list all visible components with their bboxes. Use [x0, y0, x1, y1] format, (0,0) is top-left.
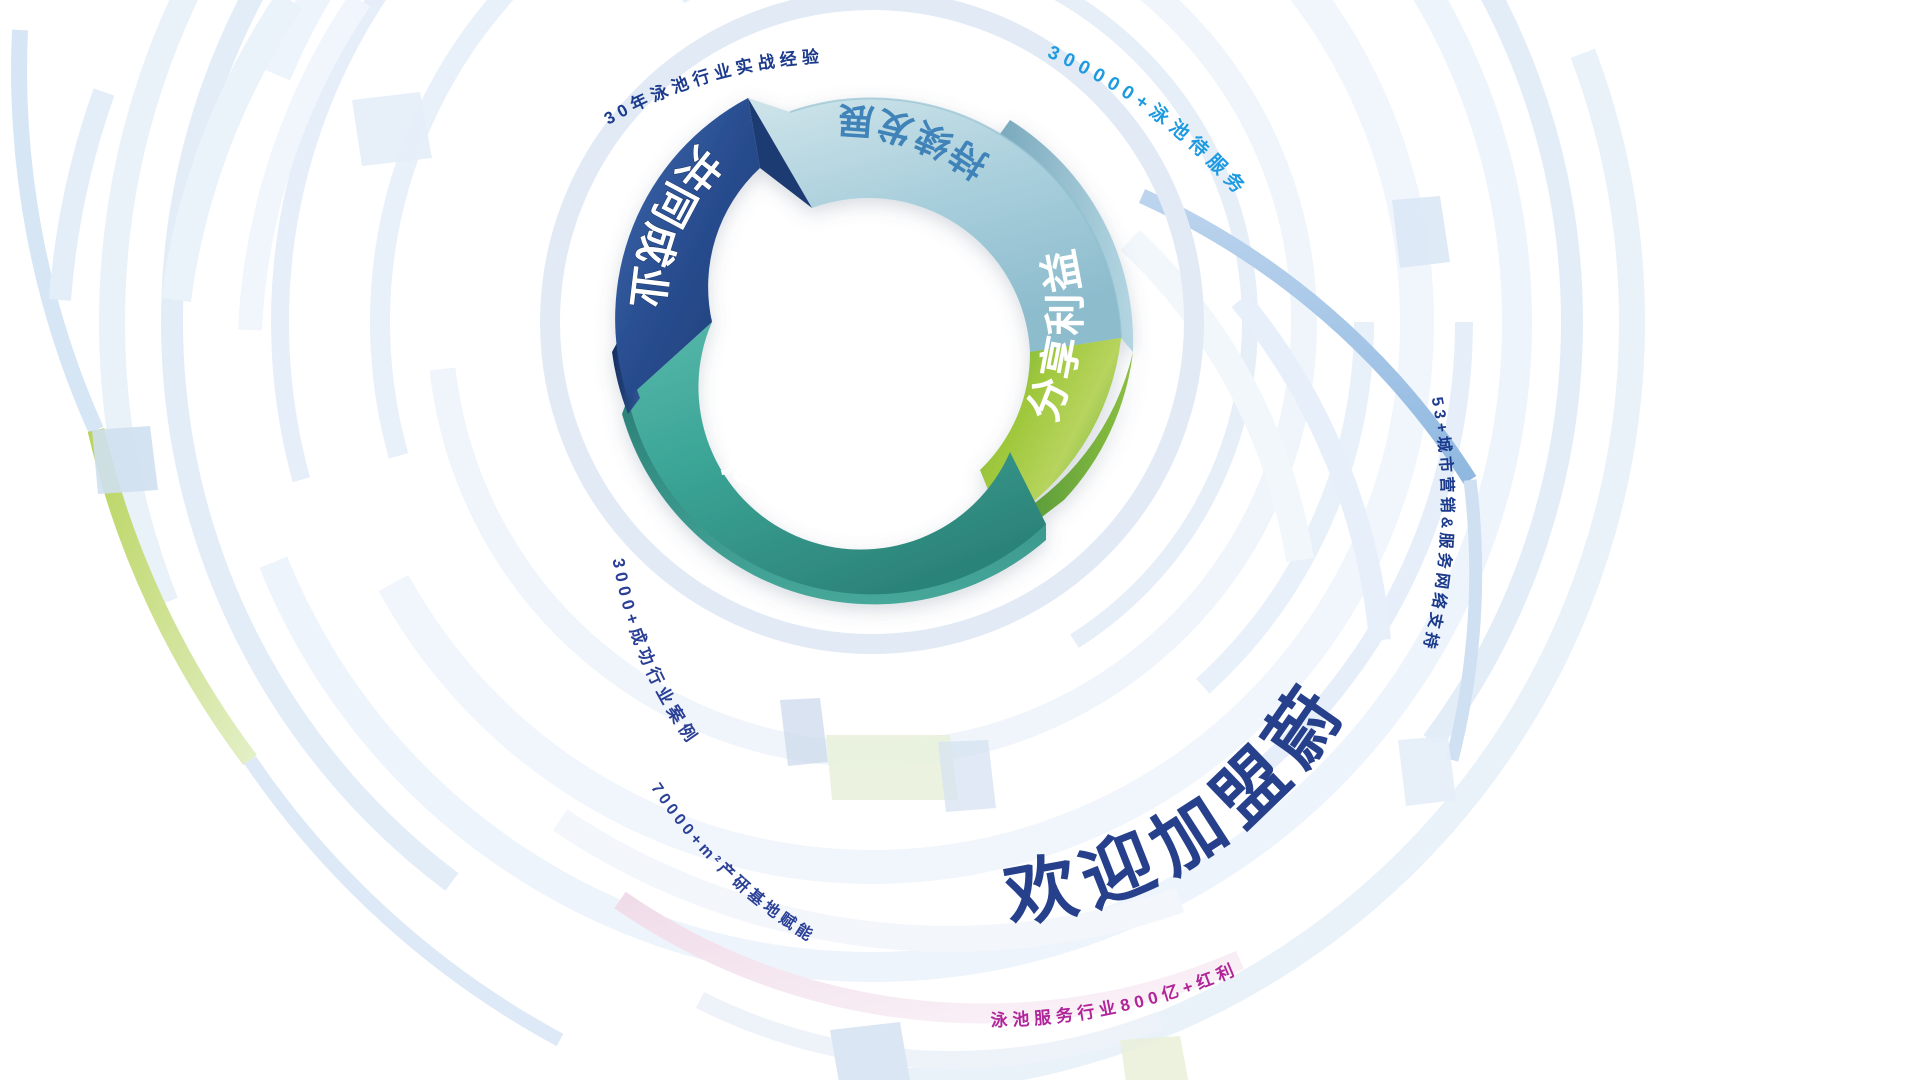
headline-join-us: 欢迎加盟蔚思蓝 — [0, 0, 1364, 938]
poster-canvas: 共同成业 持续发展 分享利益 赋能行业 30年泳池行业实战经验 — [0, 0, 1920, 1080]
headline-layer: 欢迎加盟蔚思蓝 — [0, 0, 1920, 1080]
